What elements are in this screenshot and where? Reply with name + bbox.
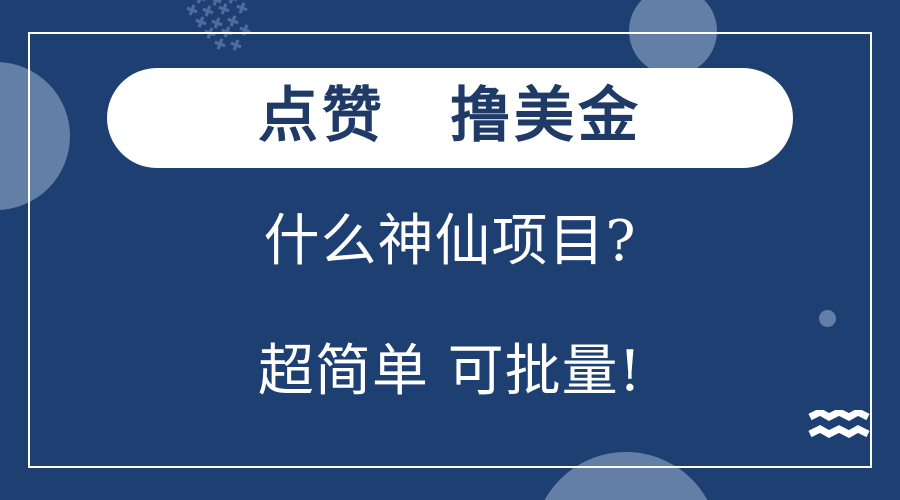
subtitle-line-1: 什么神仙项目?: [0, 214, 900, 270]
promo-poster: 点赞 撸美金 什么神仙项目? 超简单 可批量!: [0, 0, 900, 500]
decorative-dot-small: [819, 310, 836, 327]
wave-lines-icon: [808, 410, 870, 444]
headline-badge: 点赞 撸美金: [107, 68, 793, 168]
headline-text: 点赞 撸美金: [258, 86, 642, 146]
decorative-circle-top-right: [629, 0, 717, 75]
plus-sprinkle-icon: [170, 0, 280, 52]
decorative-circle-left: [0, 62, 70, 210]
decorative-circle-bottom: [533, 452, 719, 500]
subtitle-line-2: 超简单 可批量!: [0, 344, 900, 400]
